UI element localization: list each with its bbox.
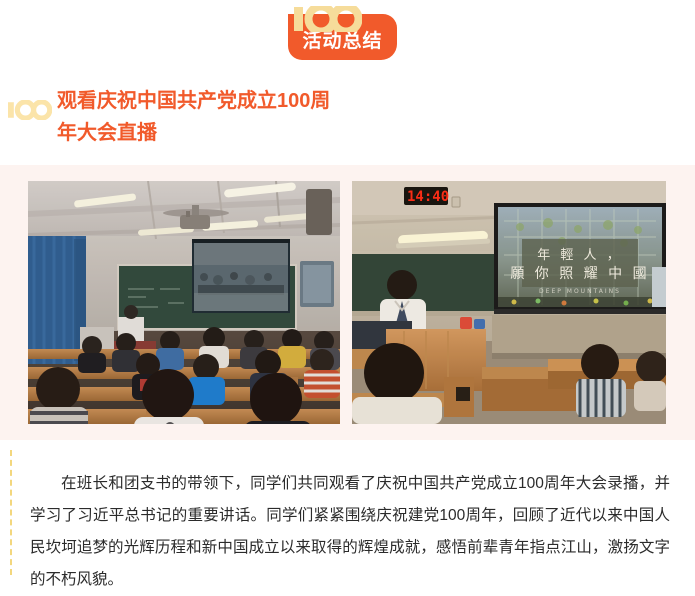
photo-right-graphic: 14:40 xyxy=(352,181,666,424)
summary-section: 在班长和团支书的带领下，同学们共同观看了庆祝中国共产党成立100周年大会录播，并… xyxy=(0,440,695,585)
page-title-line-2: 年大会直播 xyxy=(57,117,357,149)
page-title: 观看庆祝中国共产党成立100周 年大会直播 xyxy=(57,85,357,149)
photo-left-graphic xyxy=(28,181,340,424)
summary-paragraph: 在班长和团支书的带领下，同学们共同观看了庆祝中国共产党成立100周年大会录播，并… xyxy=(30,468,670,596)
photo-classroom-presentation: 14:40 xyxy=(352,181,666,424)
hundred-logo-side-icon xyxy=(8,100,52,120)
activity-summary-page: 活动总结 观看庆祝中国共产党成立100周 年大会直播 xyxy=(0,0,695,585)
page-title-line-1: 观看庆祝中国共产党成立100周 xyxy=(57,85,357,117)
photo-classroom-watching-broadcast xyxy=(28,181,340,424)
hundred-logo-icon xyxy=(294,6,362,32)
header-section: 活动总结 观看庆祝中国共产党成立100周 年大会直播 xyxy=(0,0,695,165)
photo-gallery: 14:40 xyxy=(0,165,695,440)
decorative-dashed-rule xyxy=(10,450,12,575)
